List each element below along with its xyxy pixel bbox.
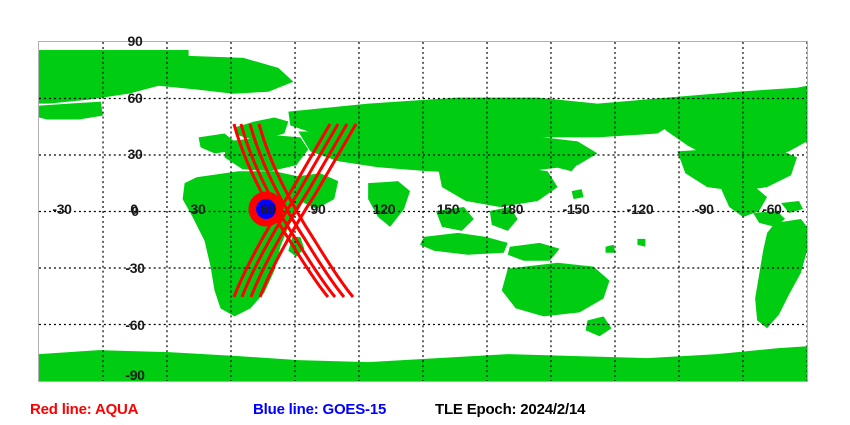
lat-tick-label--90: -90 (125, 368, 144, 382)
legend-tle-epoch: TLE Epoch: 2024/2/14 (435, 402, 585, 417)
map-plot-area[interactable] (38, 41, 808, 382)
world-map-svg (39, 42, 807, 381)
lon-tick-label-150: 150 (437, 202, 459, 216)
lon-tick-label-60: 60 (261, 202, 276, 216)
legend-red-line-aqua: Red line: AQUA (30, 402, 138, 417)
lon-tick-label-30: 30 (191, 202, 206, 216)
lat-tick-label-90: 90 (128, 34, 143, 48)
lon-tick-label-0: 0 (130, 202, 138, 216)
satellite-track-map-app: 90 60 30 0 -30 -60 -90 -30 0 30 60 90 12… (0, 0, 850, 425)
lon-tick-label--30: -30 (52, 202, 71, 216)
lon-tick-label--90: -90 (694, 202, 713, 216)
legend-bar: Red line: AQUA Blue line: GOES-15 TLE Ep… (0, 394, 850, 425)
lat-tick-label-60: 60 (128, 91, 143, 105)
lon-tick-label-90: 90 (311, 202, 326, 216)
lon-tick-label--60: -60 (762, 202, 781, 216)
lon-tick-label-180: 180 (501, 202, 523, 216)
legend-blue-line-goes15: Blue line: GOES-15 (253, 402, 386, 417)
lat-tick-label-30: 30 (128, 147, 143, 161)
lon-tick-label--120: -120 (627, 202, 654, 216)
lat-tick-label--30: -30 (125, 261, 144, 275)
lon-tick-label-120: 120 (373, 202, 395, 216)
lon-tick-label--150: -150 (563, 202, 590, 216)
lat-tick-label--60: -60 (125, 318, 144, 332)
